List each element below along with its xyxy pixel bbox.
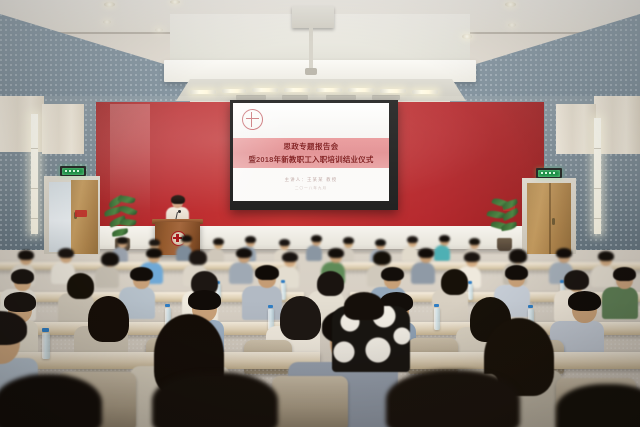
lecture-hall-photo: 思政专题报告会 暨2018年新教职工入职培训结业仪式 主讲人：王某某 教授 二〇… [0, 0, 640, 427]
water-bottle-6[interactable] [468, 284, 473, 300]
linear-light-3 [252, 88, 278, 92]
exit-sign-glyph-icon [62, 168, 84, 175]
presenter-hair [171, 195, 185, 204]
soffit-face [164, 60, 476, 82]
downlight-4 [103, 20, 111, 24]
curtain-left-b [42, 104, 84, 154]
water-bottle-cap-11 [528, 305, 533, 308]
slide-header [233, 103, 389, 138]
linear-light-1 [190, 90, 216, 94]
microphone-head-icon [178, 210, 181, 213]
wall-light-slit-right [594, 118, 601, 234]
slide-title-line-1: 思政专题报告会 [283, 141, 338, 152]
linear-light-6 [348, 88, 374, 92]
room-shell: 思政专题报告会 暨2018年新教职工入职培训结业仪式 主讲人：王某某 教授 二〇… [0, 0, 640, 427]
downlight-5 [155, 28, 163, 32]
chair-front-2[interactable] [272, 376, 348, 427]
water-bottle-cap-12 [42, 328, 49, 332]
water-bottle-cap-9 [268, 305, 273, 308]
left-wall-sign [75, 210, 87, 217]
slide-title-band: 思政专题报告会 暨2018年新教职工入职培训结业仪式 [233, 138, 389, 167]
nearest-head-left [0, 374, 102, 427]
water-bottle-cap-10 [434, 304, 439, 307]
right-exit-sign [536, 168, 562, 178]
university-crest-logo-icon [242, 109, 263, 130]
water-bottle-cap-6 [468, 281, 472, 284]
curtain-right-b [556, 104, 596, 154]
downlight-2 [170, 0, 180, 4]
water-bottle-cap-8 [165, 304, 170, 307]
water-bottle-12[interactable] [42, 333, 50, 359]
right-door-handle[interactable] [552, 218, 555, 225]
linear-light-2 [222, 89, 246, 93]
nearest-head-center-right [386, 370, 520, 427]
projector-lens [305, 68, 317, 75]
slide-title-line-2: 暨2018年新教职工入职培训结业仪式 [248, 154, 373, 165]
linear-light-8 [412, 90, 438, 94]
projector-mount-stem [309, 26, 313, 70]
exit-sign-glyph-icon [538, 170, 560, 177]
downlight-3 [505, 2, 516, 7]
projector-housing [292, 6, 334, 28]
nearest-head-center-left [152, 372, 278, 427]
downlight-7 [508, 23, 516, 27]
water-bottle-10[interactable] [434, 308, 440, 330]
projection-screen[interactable]: 思政专题报告会 暨2018年新教职工入职培训结业仪式 主讲人：王某某 教授 二〇… [230, 100, 398, 210]
patterned-blouse-attendee-hair [344, 292, 384, 320]
right-door-center-split [549, 183, 551, 254]
slide-date: 二〇一八年九月 [295, 186, 327, 191]
water-bottle-cap-3 [281, 280, 285, 283]
projected-slide: 思政专题报告会 暨2018年新教职工入职培训结业仪式 主讲人：王某某 教授 二〇… [233, 103, 389, 201]
left-exit-sign [60, 166, 86, 176]
slide-subtitle: 主讲人：王某某 教授 [285, 177, 338, 183]
linear-light-5 [316, 88, 342, 92]
plant-right [486, 198, 522, 252]
linear-light-7 [380, 89, 406, 93]
left-door-open-panel [49, 182, 71, 252]
wall-light-slit-left [31, 114, 38, 234]
slide-footer: 主讲人：王某某 教授 二〇一八年九月 [233, 168, 389, 201]
linear-light-4 [284, 88, 310, 92]
downlight-6 [462, 34, 472, 39]
downlight-1 [104, 2, 115, 7]
